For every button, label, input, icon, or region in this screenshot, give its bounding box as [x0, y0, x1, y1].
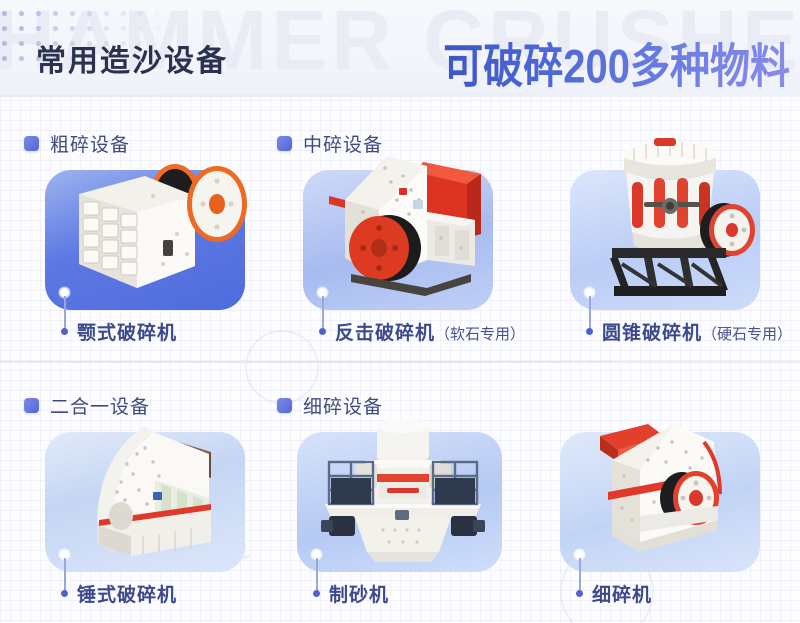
card-cone-crusher[interactable]: 圆锥破碎机（硬石专用）: [570, 170, 760, 310]
section-chip-icon: [24, 398, 39, 413]
card-label-fine-crusher: 细碎机: [592, 580, 652, 607]
header-tagline: 可破碎200多种物料: [443, 28, 790, 96]
card-label-hammer-crusher: 锤式破碎机: [77, 580, 177, 607]
connector-dot-bottom: [61, 328, 68, 335]
connector-dot-bottom: [576, 590, 583, 597]
card-label-text: 圆锥破碎机: [602, 323, 702, 344]
card-label-impact-crusher: 反击破碎机（软石专用）: [335, 318, 525, 345]
page-root: 红星 红星 HAMMER CRUSHER 常用造沙设备 可破碎200多种物料 粗…: [0, 0, 800, 623]
hammer-crusher-illustration: [69, 404, 259, 582]
jaw-crusher-illustration: [67, 148, 267, 316]
card-label-note: （软石专用）: [435, 326, 525, 343]
card-hammer-crusher[interactable]: 锤式破碎机: [45, 432, 245, 572]
card-image-frame: [45, 432, 245, 572]
card-sand-maker[interactable]: 制砂机: [297, 432, 502, 572]
connector-dot-bottom: [586, 328, 593, 335]
card-impact-crusher[interactable]: 反击破碎机（软石专用）: [303, 170, 493, 310]
connector-line: [579, 558, 581, 591]
impact-crusher-illustration: [315, 138, 505, 318]
cone-crusher-illustration: [592, 128, 762, 318]
connector-line: [322, 296, 324, 329]
section-chip-icon: [277, 136, 292, 151]
connector-dot-bottom: [61, 590, 68, 597]
card-label-sand-maker: 制砂机: [329, 580, 389, 607]
card-label-text: 制砂机: [329, 585, 389, 606]
card-image-frame: [303, 170, 493, 310]
card-label-note: （硬石专用）: [702, 326, 792, 343]
header-divider: [0, 95, 800, 97]
card-label-cone-crusher: 圆锥破碎机（硬石专用）: [602, 318, 792, 345]
row-divider: [0, 361, 800, 363]
card-label-jaw-crusher: 颚式破碎机: [77, 318, 177, 345]
connector-dot-bottom: [319, 328, 326, 335]
sand-maker-illustration: [299, 400, 504, 578]
card-label-text: 反击破碎机: [335, 323, 435, 344]
card-label-text: 锤式破碎机: [77, 585, 177, 606]
fine-crusher-illustration: [578, 402, 768, 580]
card-label-text: 细碎机: [592, 585, 652, 606]
connector-line: [64, 558, 66, 591]
card-image-frame: [560, 432, 760, 572]
connector-line: [64, 296, 66, 329]
card-fine-crusher[interactable]: 细碎机: [560, 432, 760, 572]
connector-dot-bottom: [313, 590, 320, 597]
section-chip-icon: [24, 136, 39, 151]
card-jaw-crusher[interactable]: 颚式破碎机: [45, 170, 245, 310]
card-image-frame: [45, 170, 245, 310]
section-chip-icon: [277, 398, 292, 413]
connector-line: [316, 558, 318, 591]
connector-line: [589, 296, 591, 329]
card-image-frame: [297, 432, 502, 572]
page-header: HAMMER CRUSHER 常用造沙设备 可破碎200多种物料: [0, 0, 800, 96]
card-image-frame: [570, 170, 760, 310]
card-label-text: 颚式破碎机: [77, 323, 177, 344]
page-title: 常用造沙设备: [36, 36, 228, 80]
